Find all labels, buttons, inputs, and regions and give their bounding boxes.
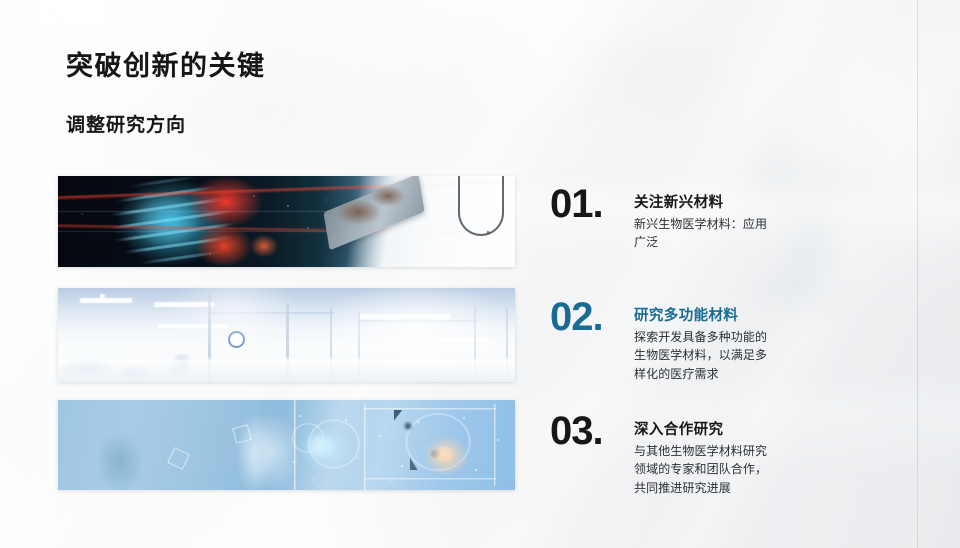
image-clean-room-laboratory (58, 288, 515, 382)
background-frame-line (917, 0, 918, 548)
list-item: 03. 深入合作研究 与其他生物医学材料研究领域的专家和团队合作，共同推进研究进… (550, 421, 830, 497)
slide-title: 突破创新的关键 (66, 44, 266, 83)
list-item: 01. 关注新兴材料 新兴生物医学材料：应用广泛 (550, 194, 830, 252)
slide-subtitle: 调整研究方向 (66, 110, 186, 137)
item-body: 关注新兴材料 新兴生物医学材料：应用广泛 (634, 194, 830, 252)
item-title: 关注新兴材料 (634, 194, 830, 212)
item-description: 与其他生物医学材料研究领域的专家和团队合作，共同推进研究进展 (634, 442, 774, 497)
item-title: 深入合作研究 (634, 421, 830, 439)
image-sheen (58, 400, 515, 490)
item-number: 03. (550, 413, 634, 450)
image-dna-research-tablet (58, 176, 515, 267)
item-number: 02. (550, 299, 634, 336)
list-item: 02. 研究多功能材料 探索开发具备多种功能的生物医学材料，以满足多样化的医疗需… (550, 307, 830, 383)
item-number: 01. (550, 186, 634, 223)
item-description: 新兴生物医学材料：应用广泛 (634, 215, 774, 251)
item-body: 研究多功能材料 探索开发具备多种功能的生物医学材料，以满足多样化的医疗需求 (634, 307, 830, 383)
laboratory-glare (58, 288, 515, 382)
item-title: 研究多功能材料 (634, 307, 830, 325)
stethoscope-icon (58, 176, 515, 267)
item-description: 探索开发具备多种功能的生物医学材料，以满足多样化的医疗需求 (634, 328, 774, 383)
image-molecular-network-robotics (58, 400, 515, 490)
presentation-slide: 突破创新的关键 调整研究方向 01. 关注 (0, 0, 960, 548)
item-body: 深入合作研究 与其他生物医学材料研究领域的专家和团队合作，共同推进研究进展 (634, 421, 830, 497)
